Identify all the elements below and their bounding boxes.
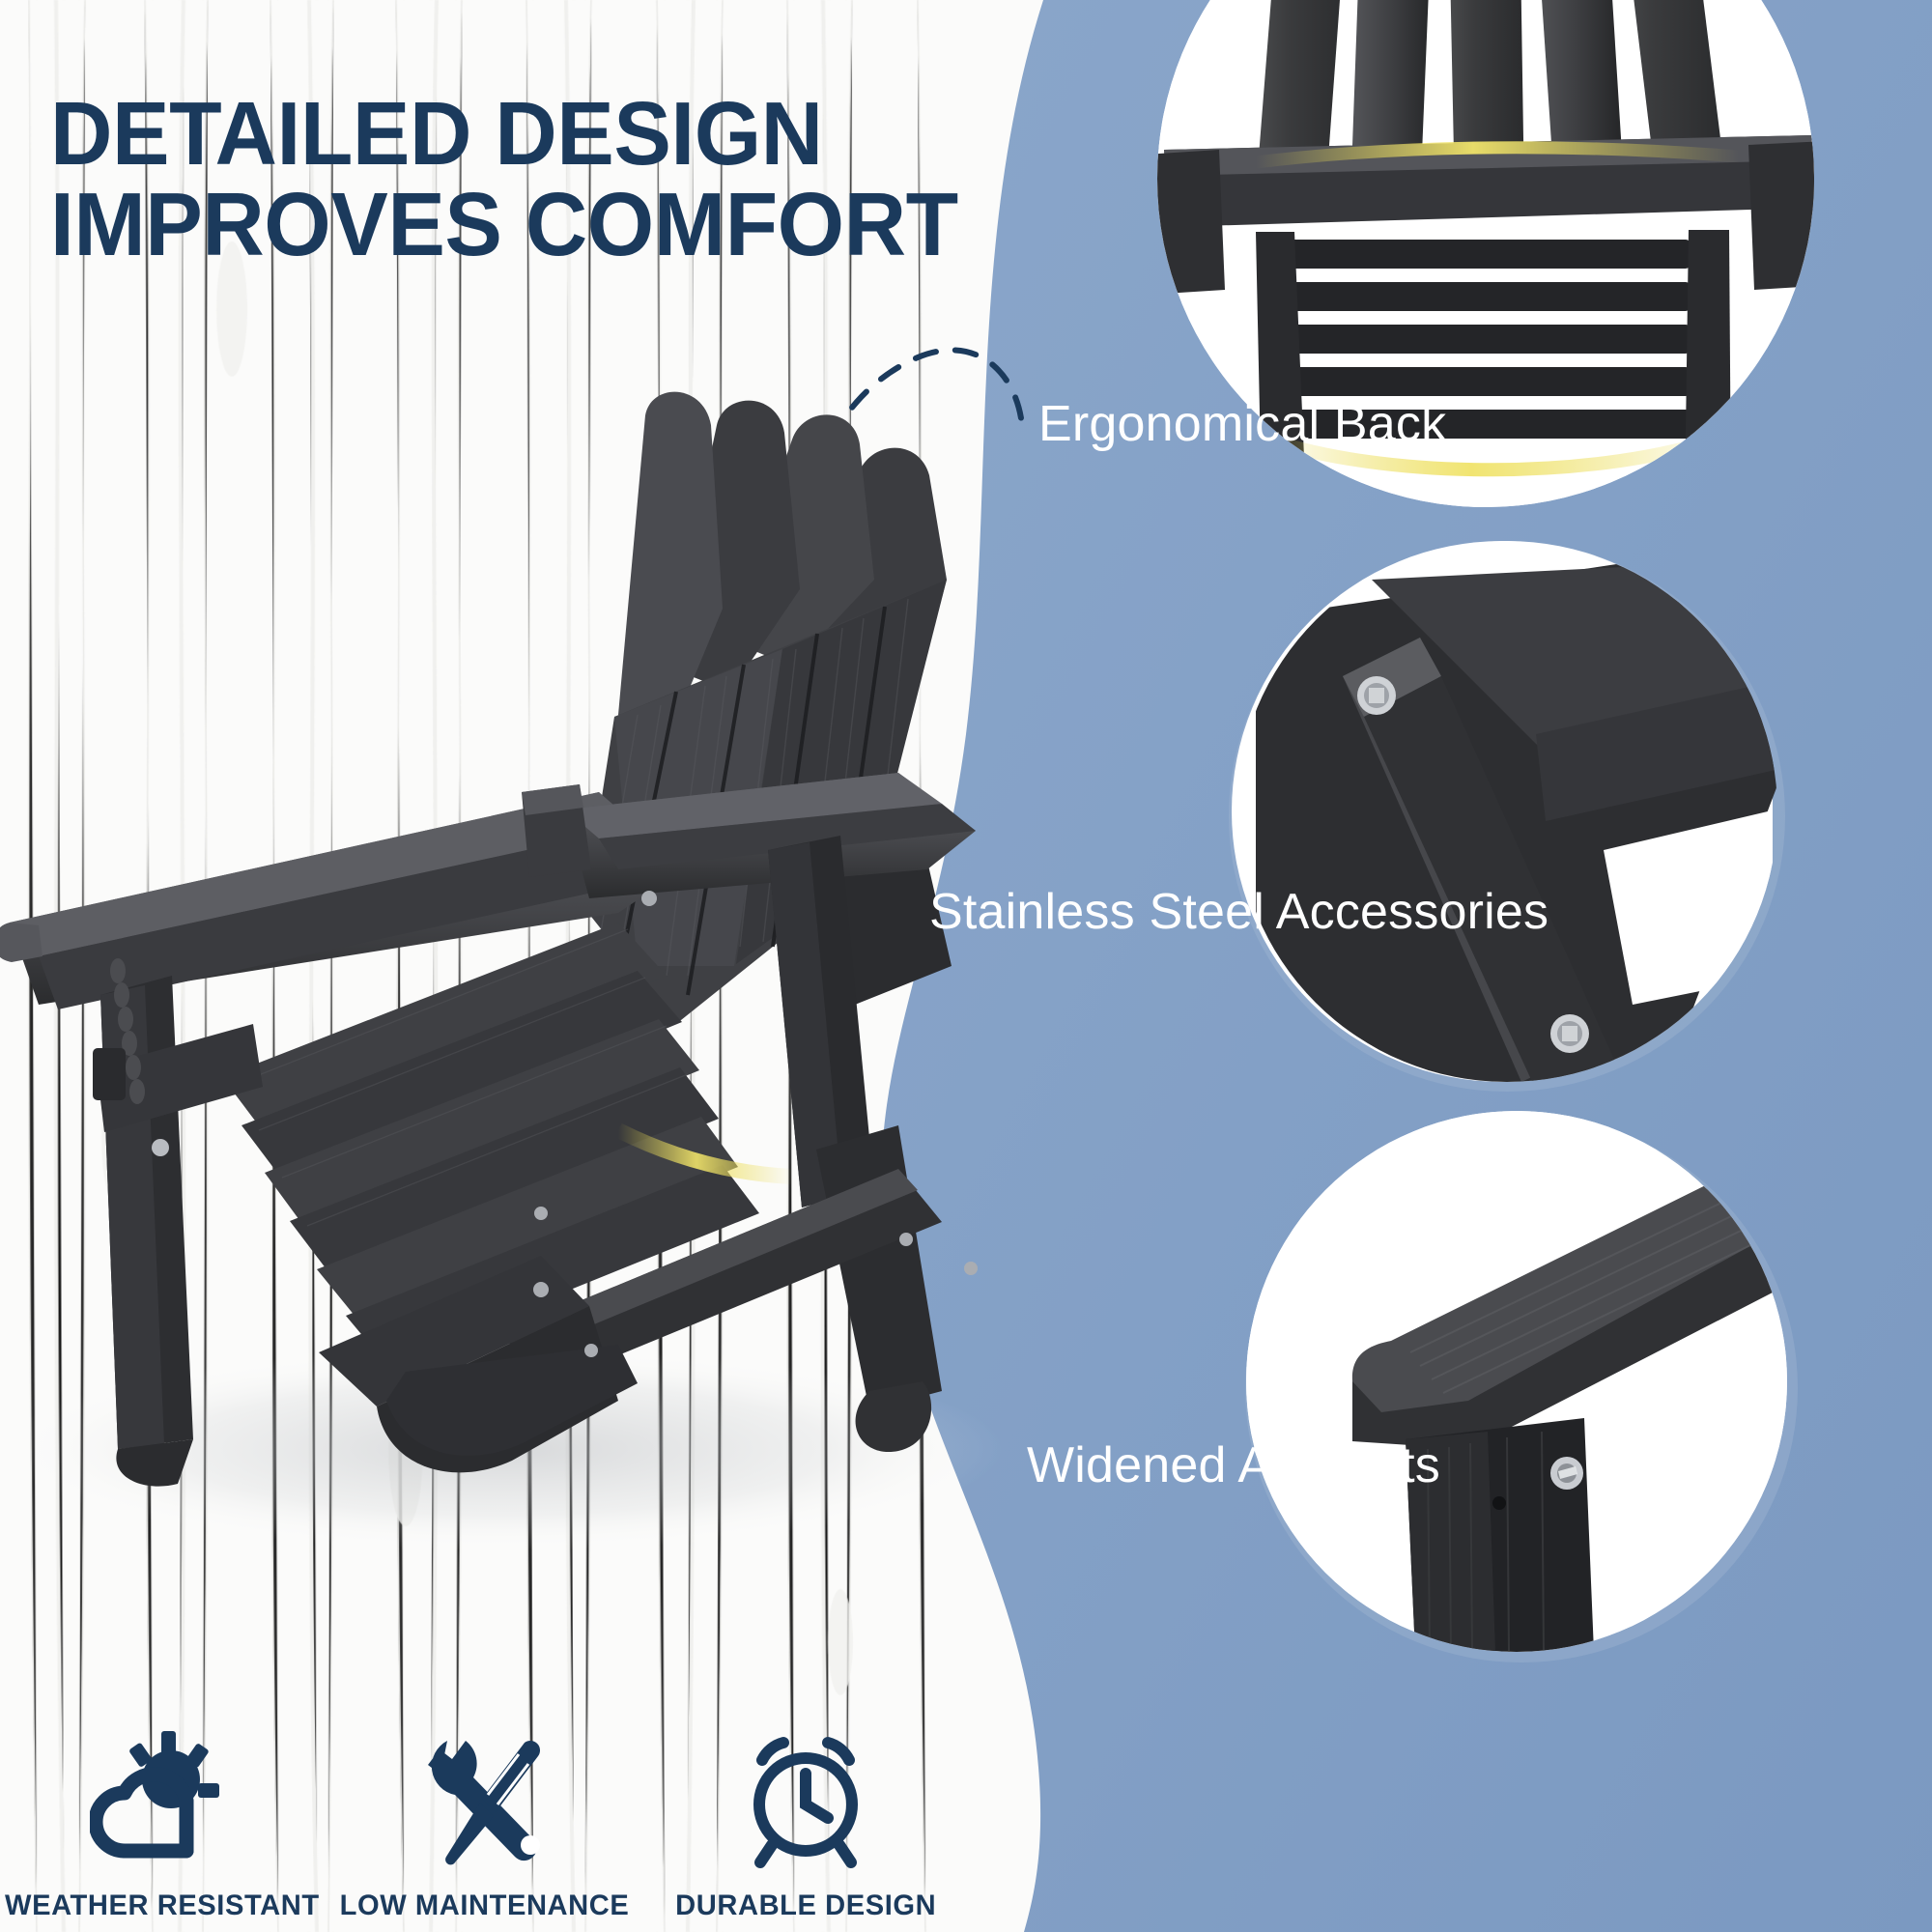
- wrench-screwdriver-icon: [412, 1708, 557, 1872]
- sun-cloud-icon: [90, 1708, 235, 1872]
- stainless-bolt: [1357, 676, 1396, 715]
- feature-row: WEATHER RESISTANT: [0, 1633, 966, 1922]
- feature-durable-design: DURABLE DESIGN: [645, 1633, 966, 1922]
- armrest-screw: [1550, 1457, 1583, 1490]
- feature-label-durable-design: DURABLE DESIGN: [675, 1889, 936, 1922]
- detail-label-stainless-steel-accessories: Stainless Steel Accessories: [929, 883, 1548, 941]
- feature-label-weather-resistant: WEATHER RESISTANT: [5, 1889, 320, 1922]
- detail-label-widened-armrests: Widened Armrests: [1027, 1436, 1440, 1494]
- feature-weather-resistant: WEATHER RESISTANT: [0, 1633, 325, 1922]
- feature-label-low-maintenance: LOW MAINTENANCE: [340, 1889, 630, 1922]
- stainless-bolt: [1550, 1014, 1589, 1053]
- infographic-canvas: DETAILED DESIGN IMPROVES COMFORT Ergonom…: [0, 0, 1932, 1932]
- page-title: DETAILED DESIGN IMPROVES COMFORT: [50, 89, 978, 270]
- detail-label-ergonomical-back: Ergonomical Back: [1038, 395, 1446, 453]
- feature-low-maintenance: LOW MAINTENANCE: [325, 1633, 645, 1922]
- title-line-1: DETAILED DESIGN: [50, 89, 941, 180]
- title-line-2: IMPROVES COMFORT: [50, 180, 941, 270]
- alarm-clock-icon: [733, 1708, 878, 1872]
